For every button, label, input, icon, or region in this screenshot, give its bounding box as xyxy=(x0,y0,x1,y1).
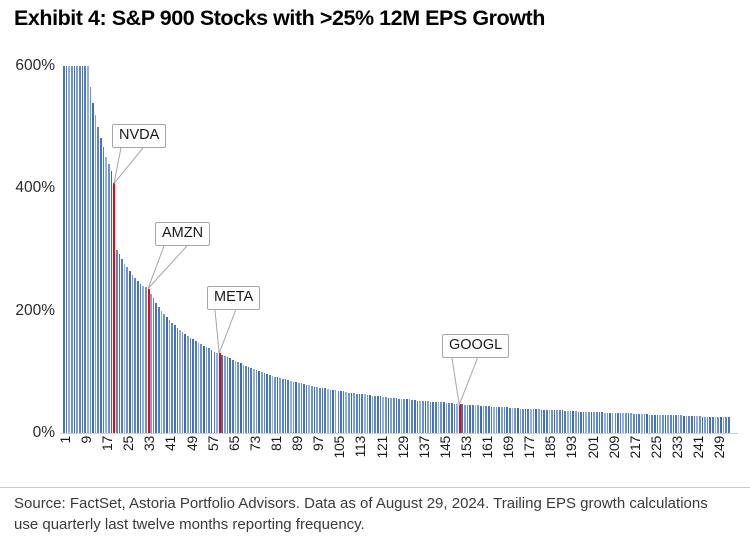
bar xyxy=(446,403,448,433)
bar xyxy=(578,412,580,433)
bar xyxy=(438,402,440,433)
bar xyxy=(161,311,163,433)
bar xyxy=(525,409,527,433)
bar xyxy=(549,410,551,433)
bar xyxy=(649,415,651,433)
bar xyxy=(237,362,239,433)
bar xyxy=(406,399,408,433)
bar xyxy=(485,406,487,433)
bar xyxy=(556,410,558,433)
bar xyxy=(717,417,719,433)
bar xyxy=(456,404,458,433)
bar xyxy=(163,314,165,433)
bar xyxy=(142,286,144,433)
bar xyxy=(601,412,603,433)
bar xyxy=(636,414,638,433)
bar xyxy=(382,397,384,433)
bar xyxy=(390,398,392,433)
bar xyxy=(132,275,134,433)
bar xyxy=(461,404,463,433)
bar xyxy=(353,393,355,433)
bar xyxy=(171,323,173,433)
bar xyxy=(591,412,593,433)
bar xyxy=(216,353,218,433)
bar xyxy=(538,409,540,433)
bar xyxy=(232,360,234,433)
bar xyxy=(665,415,667,433)
bar xyxy=(622,413,624,433)
bar xyxy=(702,417,704,434)
bar xyxy=(617,413,619,433)
bar xyxy=(517,408,519,433)
x-axis-tick: 73 xyxy=(247,436,263,451)
x-axis-tick: 177 xyxy=(521,436,537,458)
bar xyxy=(190,338,192,433)
bar xyxy=(240,363,242,433)
bar xyxy=(385,397,387,433)
x-axis-tick: 113 xyxy=(352,436,368,457)
x-axis-baseline xyxy=(60,433,738,434)
bar xyxy=(541,410,543,433)
bar xyxy=(235,361,237,433)
bar xyxy=(277,377,279,433)
bar xyxy=(683,416,685,433)
bar xyxy=(612,413,614,433)
bar xyxy=(322,388,324,433)
bar xyxy=(140,284,142,433)
bar xyxy=(290,381,292,433)
bar xyxy=(417,401,419,433)
bar xyxy=(63,66,65,433)
bar xyxy=(155,303,157,433)
bar xyxy=(103,147,105,433)
bar xyxy=(361,394,363,433)
bar xyxy=(615,413,617,433)
x-axis-tick: 41 xyxy=(162,436,178,451)
bar xyxy=(229,358,231,433)
x-axis-tick: 153 xyxy=(458,436,474,458)
bar xyxy=(264,373,266,433)
bar xyxy=(488,406,490,433)
bar xyxy=(87,66,89,433)
bar-highlight xyxy=(148,289,150,433)
bar xyxy=(301,383,303,433)
bar xyxy=(654,415,656,433)
y-axis-tick: 600% xyxy=(15,57,55,75)
bar xyxy=(293,382,295,433)
bar xyxy=(464,405,466,433)
bar xyxy=(369,395,371,433)
bar xyxy=(686,416,688,433)
bar xyxy=(504,407,506,433)
y-axis-tick: 400% xyxy=(15,179,55,197)
bar xyxy=(709,417,711,434)
bar xyxy=(311,386,313,433)
bar xyxy=(580,412,582,433)
bar xyxy=(572,411,574,433)
bar xyxy=(514,408,516,433)
bar xyxy=(266,374,268,433)
bar xyxy=(211,350,213,433)
y-axis-tick: 0% xyxy=(33,424,55,442)
bar xyxy=(316,387,318,433)
bar xyxy=(498,407,500,433)
bar xyxy=(343,391,345,433)
bar xyxy=(306,385,308,433)
x-axis-tick: 97 xyxy=(310,436,326,451)
bar xyxy=(575,411,577,433)
bar xyxy=(137,281,139,433)
bar xyxy=(509,408,511,433)
bar xyxy=(720,417,722,433)
bar xyxy=(203,346,205,433)
bar xyxy=(92,103,94,433)
x-axis-tick: 193 xyxy=(563,436,579,458)
bar xyxy=(707,417,709,434)
source-note: Source: FactSet, Astoria Portfolio Advis… xyxy=(14,493,736,536)
bar xyxy=(583,412,585,433)
bar xyxy=(588,412,590,433)
bar xyxy=(100,138,102,433)
x-axis-tick: 233 xyxy=(669,436,685,458)
bar xyxy=(253,369,255,433)
bar xyxy=(364,394,366,433)
bar xyxy=(158,307,160,433)
annotation-label-amzn: AMZN xyxy=(155,222,210,246)
bar xyxy=(715,417,717,433)
x-axis-tick: 241 xyxy=(690,436,706,458)
bar xyxy=(258,371,260,433)
bar xyxy=(667,415,669,433)
bar xyxy=(377,396,379,433)
bar xyxy=(659,415,661,433)
x-axis: 1917253341495765738189971051131211291371… xyxy=(60,436,738,482)
bar xyxy=(469,405,471,433)
source-line-1: Source: FactSet, Astoria Portfolio Advis… xyxy=(14,495,625,512)
bar xyxy=(699,416,701,433)
bar xyxy=(694,416,696,433)
x-axis-tick: 25 xyxy=(120,436,136,451)
bar xyxy=(105,157,107,433)
bar xyxy=(327,389,329,433)
bar xyxy=(522,409,524,433)
bar xyxy=(351,393,353,433)
bar xyxy=(261,372,263,433)
bar xyxy=(332,390,334,433)
bar xyxy=(82,66,84,433)
bar xyxy=(129,271,131,433)
x-axis-tick: 105 xyxy=(331,436,347,458)
bar xyxy=(282,379,284,433)
chart-root: Exhibit 4: S&P 900 Stocks with >25% 12M … xyxy=(0,0,750,544)
x-axis-tick: 137 xyxy=(416,436,432,458)
x-axis-tick: 9 xyxy=(78,436,94,444)
bar xyxy=(440,402,442,433)
x-axis-tick: 161 xyxy=(479,436,495,458)
bar xyxy=(71,66,73,433)
bar xyxy=(121,259,123,433)
bar xyxy=(182,332,184,433)
bar xyxy=(628,413,630,433)
bar xyxy=(111,171,113,433)
bar xyxy=(174,325,176,433)
x-axis-tick: 1 xyxy=(57,436,73,444)
bar xyxy=(298,383,300,433)
bar xyxy=(206,347,208,433)
bar xyxy=(195,341,197,433)
bar xyxy=(551,410,553,433)
bar xyxy=(604,413,606,433)
bar xyxy=(388,398,390,433)
bar xyxy=(303,384,305,433)
bar xyxy=(467,405,469,433)
bar xyxy=(119,254,121,433)
bar xyxy=(250,368,252,433)
bar xyxy=(728,417,730,433)
bar xyxy=(570,411,572,433)
y-axis: 0%200%400%600% xyxy=(0,0,55,544)
bar xyxy=(330,390,332,433)
bar xyxy=(84,66,86,433)
bar xyxy=(527,409,529,433)
bar xyxy=(630,413,632,433)
bar xyxy=(314,387,316,433)
bar xyxy=(221,355,223,433)
bar xyxy=(374,396,376,433)
bar xyxy=(200,344,202,433)
bar xyxy=(198,343,200,433)
bar xyxy=(477,405,479,433)
bar xyxy=(472,405,474,433)
bar xyxy=(430,402,432,433)
bar xyxy=(422,401,424,433)
bar xyxy=(134,278,136,433)
bar xyxy=(483,406,485,433)
x-axis-tick: 57 xyxy=(205,436,221,451)
bar xyxy=(554,410,556,433)
bar xyxy=(192,339,194,433)
bar xyxy=(396,398,398,433)
bar xyxy=(454,404,456,433)
bar xyxy=(243,365,245,434)
bar xyxy=(398,399,400,433)
x-axis-tick: 201 xyxy=(585,436,601,458)
bar xyxy=(657,415,659,433)
bar xyxy=(491,407,493,433)
bar xyxy=(419,401,421,433)
bar-highlight xyxy=(459,404,461,433)
bar xyxy=(651,415,653,433)
bar xyxy=(295,382,297,433)
bar xyxy=(184,334,186,433)
x-axis-tick: 65 xyxy=(226,436,242,451)
bar xyxy=(411,400,413,433)
bar xyxy=(227,357,229,433)
bar-highlight xyxy=(219,353,221,433)
bar xyxy=(76,66,78,433)
x-axis-tick: 89 xyxy=(289,436,305,451)
bar xyxy=(451,403,453,433)
bar xyxy=(359,394,361,433)
bar xyxy=(638,414,640,433)
bar xyxy=(723,417,725,433)
plot-area xyxy=(60,66,738,433)
x-axis-tick: 249 xyxy=(711,436,727,458)
x-axis-tick: 185 xyxy=(542,436,558,458)
bar xyxy=(425,401,427,433)
x-axis-tick: 209 xyxy=(606,436,622,458)
bar xyxy=(414,400,416,433)
bar xyxy=(678,415,680,433)
bar xyxy=(712,417,714,434)
bar xyxy=(559,410,561,433)
bar xyxy=(79,66,81,433)
bar xyxy=(432,402,434,433)
bar xyxy=(372,396,374,433)
bar xyxy=(285,379,287,433)
bar xyxy=(338,391,340,433)
bar xyxy=(670,415,672,433)
bar xyxy=(564,411,566,433)
bar xyxy=(427,401,429,433)
bar xyxy=(126,267,128,433)
bar xyxy=(116,250,118,434)
bar xyxy=(272,376,274,433)
annotation-label-googl: GOOGL xyxy=(442,334,509,358)
bar xyxy=(335,390,337,433)
bar xyxy=(124,264,126,433)
x-axis-tick: 81 xyxy=(268,436,284,451)
bar xyxy=(409,399,411,433)
bar xyxy=(675,415,677,433)
bar xyxy=(256,370,258,433)
bar xyxy=(546,410,548,433)
bar xyxy=(245,366,247,433)
bar xyxy=(620,413,622,433)
x-axis-tick: 121 xyxy=(374,436,390,458)
bar xyxy=(530,409,532,433)
bar xyxy=(496,407,498,433)
x-axis-tick: 217 xyxy=(627,436,643,458)
bar xyxy=(480,406,482,433)
bar xyxy=(153,298,155,433)
bar xyxy=(187,336,189,433)
bar xyxy=(691,416,693,433)
bar xyxy=(274,377,276,433)
bar xyxy=(609,413,611,433)
x-axis-tick: 17 xyxy=(99,436,115,451)
bar xyxy=(145,287,147,433)
footer-divider xyxy=(0,487,750,488)
x-axis-tick: 169 xyxy=(500,436,516,458)
bar xyxy=(90,87,92,433)
bar xyxy=(179,330,181,433)
bar xyxy=(593,412,595,433)
bar-series xyxy=(60,66,738,433)
bar-highlight xyxy=(113,183,115,433)
bar xyxy=(688,416,690,433)
bar xyxy=(501,407,503,433)
bar xyxy=(66,66,68,433)
bar xyxy=(596,412,598,433)
bar xyxy=(74,66,76,433)
bar xyxy=(704,417,706,434)
bar xyxy=(633,414,635,433)
bar xyxy=(345,392,347,433)
bar xyxy=(269,375,271,433)
bar xyxy=(380,396,382,433)
bar xyxy=(108,164,110,433)
bar xyxy=(475,405,477,433)
bar xyxy=(585,412,587,433)
bar xyxy=(662,415,664,433)
bar xyxy=(224,356,226,433)
bar xyxy=(150,294,152,433)
x-axis-tick: 33 xyxy=(141,436,157,451)
bar xyxy=(68,66,70,433)
bar xyxy=(680,415,682,433)
bar xyxy=(214,352,216,433)
x-axis-tick: 145 xyxy=(437,436,453,458)
bar xyxy=(324,388,326,433)
bar xyxy=(644,414,646,433)
bar xyxy=(169,320,171,433)
bar xyxy=(725,417,727,433)
bar xyxy=(248,367,250,433)
bar xyxy=(443,402,445,433)
bar xyxy=(696,416,698,433)
bar xyxy=(177,328,179,433)
bar xyxy=(356,394,358,433)
bar xyxy=(673,415,675,433)
bar xyxy=(599,412,601,433)
annotation-label-nvda: NVDA xyxy=(112,124,166,148)
bar xyxy=(646,414,648,433)
x-axis-tick: 225 xyxy=(648,436,664,458)
bar xyxy=(435,402,437,433)
bar xyxy=(279,378,281,433)
annotation-label-meta: META xyxy=(207,286,260,310)
bar xyxy=(607,413,609,433)
bar xyxy=(319,388,321,433)
chart-title: Exhibit 4: S&P 900 Stocks with >25% 12M … xyxy=(14,6,738,31)
bar xyxy=(535,409,537,433)
bar xyxy=(166,317,168,433)
bar xyxy=(543,410,545,433)
bar xyxy=(448,403,450,433)
y-axis-tick: 200% xyxy=(15,302,55,320)
bar xyxy=(367,395,369,433)
bar xyxy=(401,399,403,433)
bar xyxy=(95,115,97,433)
bar xyxy=(308,385,310,433)
bar xyxy=(493,407,495,433)
bar xyxy=(641,414,643,433)
bar xyxy=(567,411,569,433)
bar xyxy=(403,399,405,433)
bar xyxy=(340,391,342,433)
bar xyxy=(625,413,627,433)
x-axis-tick: 49 xyxy=(184,436,200,451)
bar xyxy=(393,398,395,433)
bar xyxy=(520,409,522,433)
bar xyxy=(97,127,99,433)
bar xyxy=(287,380,289,433)
x-axis-tick: 129 xyxy=(395,436,411,458)
bar xyxy=(562,410,564,433)
bar xyxy=(506,407,508,433)
bar xyxy=(208,348,210,433)
